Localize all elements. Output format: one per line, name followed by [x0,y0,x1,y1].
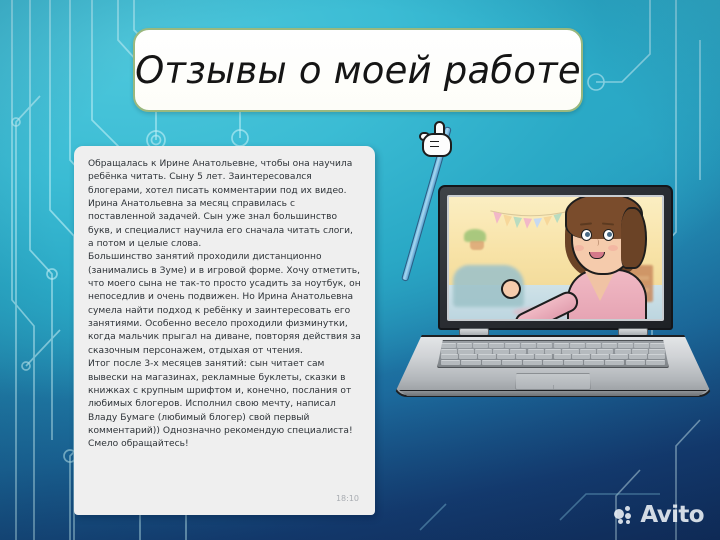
avatar-pupil-left [585,232,590,237]
plant-pot-icon [470,241,484,250]
laptop-bezel [447,195,664,321]
laptop-screen [449,197,662,319]
laptop-lid [438,185,673,330]
avito-watermark: Avito [614,502,704,528]
glove-palm [422,133,452,157]
laptop-trackpad [515,373,591,390]
keyboard-row [440,343,666,348]
glove-crease [430,141,439,143]
avito-logo-icon [614,506,635,525]
trackpad-divider [553,385,554,390]
laptop-hinge-left [459,328,489,336]
review-timestamp: 18:10 [336,494,359,503]
title-card: Отзывы о моей работе [133,28,583,112]
laptop-illustration [393,185,713,425]
pointing-hand-icon [422,121,454,157]
laptop-keyboard [437,340,669,368]
review-paragraph: Большинство занятий проходили дистанцион… [88,251,361,358]
review-paragraph: Обращалась к Ирине Анатольевне, чтобы он… [88,158,361,251]
glove-crease [430,146,439,148]
page-title: Отзывы о моей работе [135,49,581,92]
keyboard-row [440,349,666,354]
avatar-pupil-right [607,232,612,237]
review-paragraph: Итог после 3-х месяцев занятий: сын чита… [88,358,361,451]
avito-wordmark: Avito [640,502,704,528]
avatar-cheek-right [608,245,618,251]
keyboard-row [440,360,666,365]
avatar-nose [594,239,599,246]
laptop-front-lip [396,390,710,397]
avatar-cheek-left [574,245,584,251]
keyboard-row [440,354,666,359]
laptop-hinge-right [618,328,648,336]
teacher-avatar [545,197,662,319]
avatar-hair-side [621,207,647,269]
plant-icon [464,229,486,242]
review-panel: Обращалась к Ирине Анатольевне, чтобы он… [74,146,375,515]
